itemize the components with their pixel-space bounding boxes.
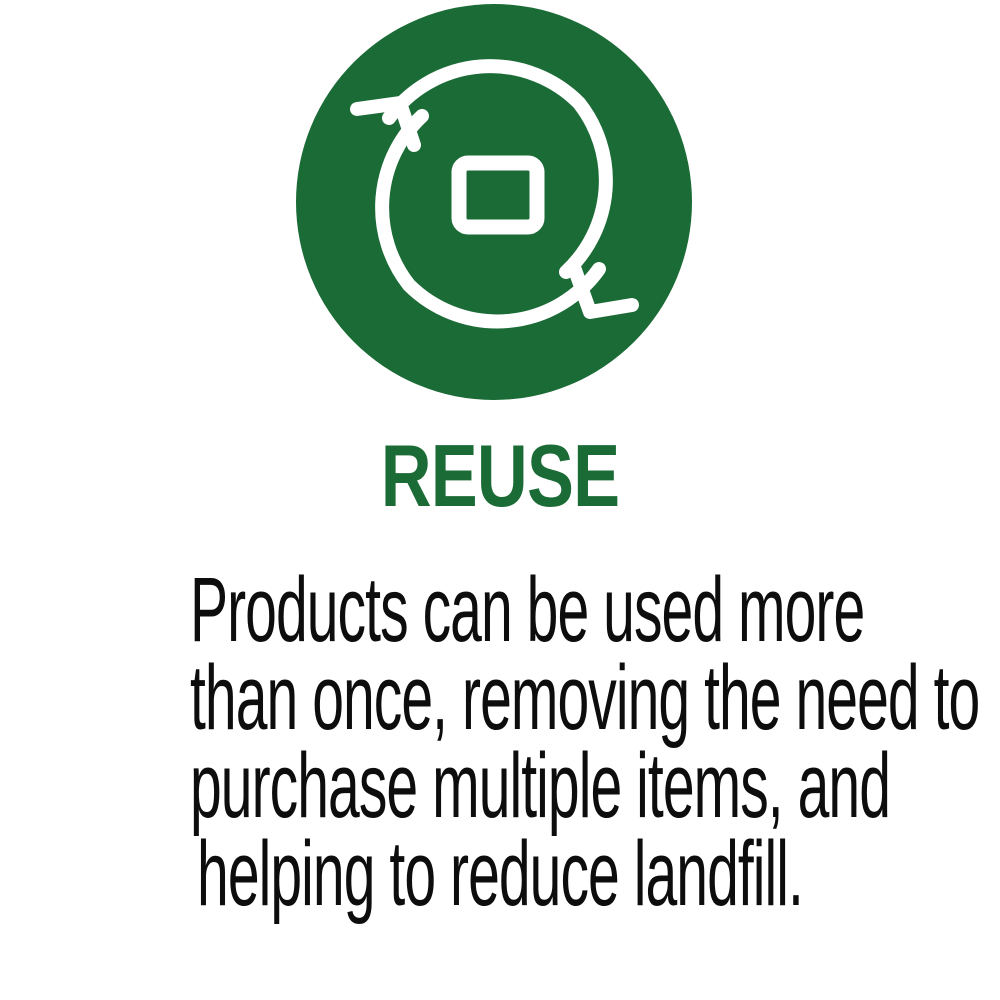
description-line-3: purchase multiple items, and (190, 742, 810, 830)
reuse-cycle-icon (296, 4, 692, 400)
description-line-2: than once, removing the need to (190, 654, 810, 742)
page-title: REUSE (100, 432, 900, 520)
description-text: Products can be used more than once, rem… (0, 566, 1000, 918)
reuse-icon-badge (296, 4, 692, 400)
reuse-info-card: REUSE Products can be used more than onc… (0, 0, 1000, 1000)
description-line-1: Products can be used more (190, 566, 810, 654)
description-line-4: helping to reduce landfill. (190, 830, 810, 918)
